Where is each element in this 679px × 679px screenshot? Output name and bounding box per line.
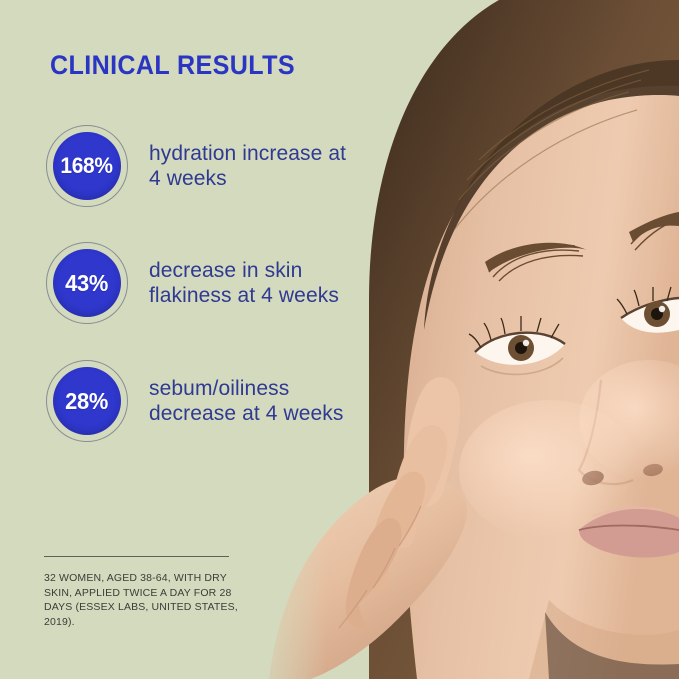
- stat-badge: 168%: [44, 123, 130, 209]
- stat-badge: 28%: [44, 358, 130, 444]
- stat-row: 28% sebum/oiliness decrease at 4 weeks: [44, 358, 344, 444]
- footnote-divider: [44, 556, 229, 557]
- clinical-results-infographic: CLINICAL RESULTS 168% hydration increase…: [0, 0, 679, 679]
- stat-description: sebum/oiliness decrease at 4 weeks: [149, 376, 344, 426]
- stat-description: hydration increase at 4 weeks: [149, 141, 346, 191]
- stat-description: decrease in skin flakiness at 4 weeks: [149, 258, 339, 308]
- stat-row: 168% hydration increase at 4 weeks: [44, 123, 346, 209]
- stat-value: 168%: [61, 153, 113, 179]
- stat-badge: 43%: [44, 240, 130, 326]
- footnote-text: 32 WOMEN, AGED 38-64, WITH DRY SKIN, APP…: [44, 571, 240, 629]
- stat-value: 28%: [66, 388, 109, 415]
- stat-value: 43%: [66, 270, 109, 297]
- stat-row: 43% decrease in skin flakiness at 4 week…: [44, 240, 339, 326]
- model-portrait-photo: [249, 0, 679, 679]
- page-title: CLINICAL RESULTS: [50, 50, 295, 81]
